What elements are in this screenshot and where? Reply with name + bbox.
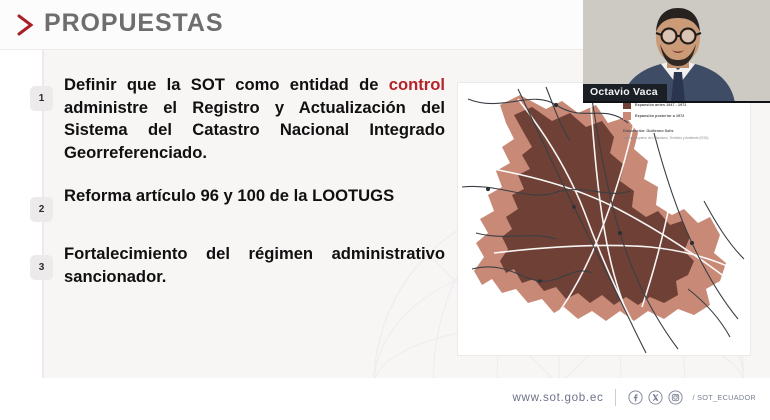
presentation-stage: PROPUESTAS 1 Definir que la SOT como ent… <box>0 0 770 420</box>
participant-name-label: Octavio Vaca <box>583 84 667 101</box>
list-item-number: 2 <box>30 197 53 222</box>
list-item-text: Reforma artículo 96 y 100 de la LOOTUGS <box>64 185 445 208</box>
list-item-number: 1 <box>30 86 53 111</box>
list-item-number: 3 <box>30 255 53 280</box>
footer-divider <box>615 389 616 406</box>
legend-item: Expansión posterior a 1972 <box>623 112 743 120</box>
list-item-text: Fortalecimiento del régimen administrati… <box>64 243 445 288</box>
slide-footer: www.sot.gob.ec / SOT_ECUADOR <box>0 378 770 420</box>
footer-content: www.sot.gob.ec / SOT_ECUADOR <box>512 389 756 406</box>
map-legend: Expansión antes 1947 - 1972 Expansión po… <box>623 101 743 140</box>
social-handle: / SOT_ECUADOR <box>692 393 756 402</box>
list-item-text-before: Definir que la SOT como entidad de <box>64 75 389 94</box>
list-item-text: Definir que la SOT como entidad de contr… <box>64 74 445 164</box>
urban-expansion-map-figure: Expansión antes 1947 - 1972 Expansión po… <box>457 82 751 356</box>
legend-item-label: Expansión posterior a 1972 <box>635 114 684 118</box>
list-item-text-before: Reforma artículo 96 y 100 de la LOOTUGS <box>64 186 394 205</box>
website-url[interactable]: www.sot.gob.ec <box>512 391 603 404</box>
list-item-highlight: control <box>389 75 445 94</box>
map-credit: Elaboración: Guillermo Solis <box>623 129 743 133</box>
chevron-right-icon <box>14 12 38 38</box>
list-item: 1 Definir que la SOT como entidad de con… <box>30 74 445 164</box>
map-credit-subtitle: Instituto Superior de Urbanismo, Territo… <box>623 136 715 140</box>
proposals-list: 1 Definir que la SOT como entidad de con… <box>30 74 445 309</box>
list-item-text-after: administre el Registro y Actualización d… <box>64 98 445 162</box>
list-item-text-before: Fortalecimiento del régimen administrati… <box>64 244 445 286</box>
page-title: PROPUESTAS <box>44 9 223 38</box>
instagram-icon[interactable] <box>668 390 683 405</box>
legend-item-label: Expansión antes 1947 - 1972 <box>635 103 686 107</box>
video-participant-tile[interactable]: Octavio Vaca <box>583 0 770 103</box>
list-item: 2 Reforma artículo 96 y 100 de la LOOTUG… <box>30 185 445 222</box>
legend-swatch-icon <box>623 112 631 120</box>
list-item: 3 Fortalecimiento del régimen administra… <box>30 243 445 288</box>
x-twitter-icon[interactable] <box>648 390 663 405</box>
facebook-icon[interactable] <box>628 390 643 405</box>
